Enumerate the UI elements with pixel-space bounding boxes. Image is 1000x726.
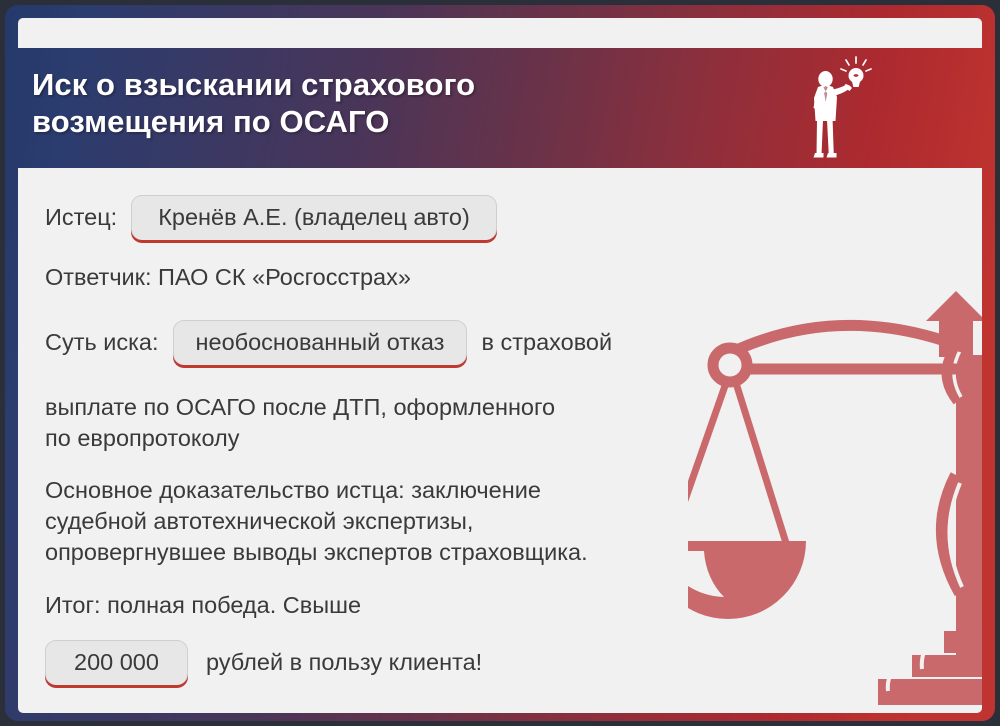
top-blank-strip xyxy=(18,18,982,48)
plaintiff-label: Истец: xyxy=(45,204,117,231)
amount-after-text: рублей в пользу клиента! xyxy=(206,649,482,676)
defendant-row: Ответчик: ПАО СК «Росгосстрах» xyxy=(45,264,411,291)
evidence-text: Основное доказательство истца: заключени… xyxy=(45,475,588,568)
result-row: Итог: полная победа. Свыше xyxy=(45,592,361,619)
plaintiff-value-pill[interactable]: Кренёв А.Е. (владелец авто) xyxy=(131,195,497,240)
amount-value-pill[interactable]: 200 000 xyxy=(45,640,188,685)
plaintiff-row: Истец: Кренёв А.Е. (владелец авто) xyxy=(45,195,497,240)
page-title: Иск о взыскании страхового возмещения по… xyxy=(32,66,632,140)
slide-card: Иск о взыскании страхового возмещения по… xyxy=(5,5,995,721)
claim-label: Суть иска: xyxy=(45,329,159,356)
businessman-with-lightbulb-icon xyxy=(800,54,880,166)
claim-value-pill[interactable]: необоснованный отказ xyxy=(173,320,468,365)
claim-continuation-text: выплате по ОСАГО после ДТП, оформленного… xyxy=(45,392,555,454)
amount-row: 200 000 рублей в пользу клиента! xyxy=(45,640,482,685)
claim-after-pill-text: в страховой xyxy=(481,329,612,356)
defendant-text: Ответчик: ПАО СК «Росгосстрах» xyxy=(45,264,411,291)
header-band: Иск о взыскании страхового возмещения по… xyxy=(5,48,995,168)
case-summary-content: Истец: Кренёв А.Е. (владелец авто) Ответ… xyxy=(18,168,982,713)
body-panel: Истец: Кренёв А.Е. (владелец авто) Ответ… xyxy=(18,168,982,713)
result-text: Итог: полная победа. Свыше xyxy=(45,592,361,619)
claim-row: Суть иска: необоснованный отказ в страхо… xyxy=(45,320,612,365)
